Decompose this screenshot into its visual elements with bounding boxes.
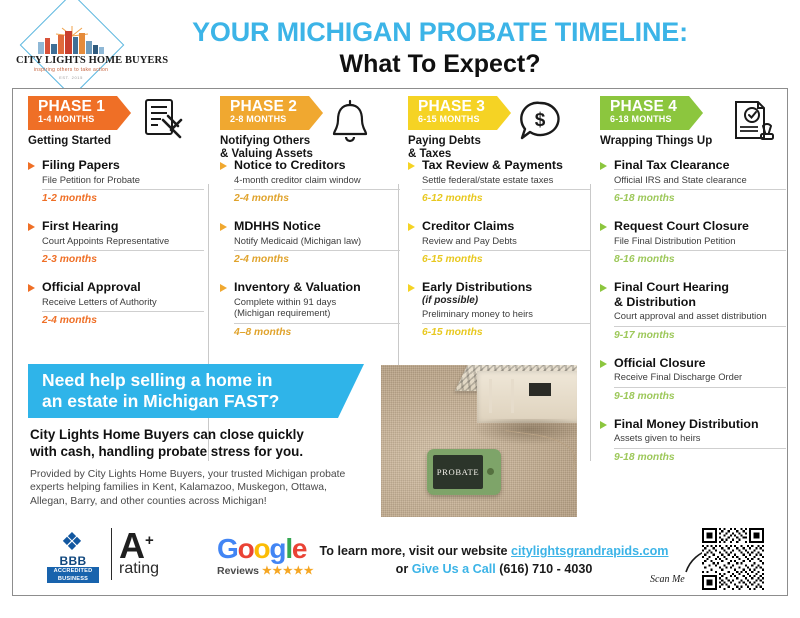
google-letter-l: l <box>285 533 292 564</box>
phone-number: (616) 710 - 4030 <box>496 562 593 576</box>
item-desc: File Petition for Probate <box>42 174 204 186</box>
page-title: YOUR MICHIGAN PROBATE TIMELINE: What To … <box>130 16 750 79</box>
phase-column-2: PHASE 2 2-8 MONTHS Notifying Others & Va… <box>220 96 400 353</box>
list-item: Tax Review & Payments Settle federal/sta… <box>408 158 590 205</box>
google-letter-g1: G <box>217 533 238 564</box>
item-desc: 4-month creditor claim window <box>234 174 400 186</box>
contact-line-1: To learn more, visit our website citylig… <box>294 542 694 560</box>
bullet-triangle-icon <box>600 284 607 292</box>
bbb-accredited-badge: ACCREDITED BUSINESS <box>47 567 99 583</box>
house-window <box>529 383 551 396</box>
document-stamp-icon <box>728 98 776 148</box>
phase-1-badge-label: PHASE 1 <box>38 99 105 114</box>
house-post <box>489 379 492 413</box>
item-rule <box>614 189 786 190</box>
item-desc: File Final Distribution Petition <box>614 235 786 247</box>
item-title: Official Approval <box>42 280 204 295</box>
item-duration: 1-2 months <box>42 193 204 205</box>
header: CITY LIGHTS HOME BUYERS inspiring others… <box>0 0 800 88</box>
list-item: Final Court Hearing & Distribution Court… <box>600 280 786 342</box>
list-item: First Hearing Court Appoints Representat… <box>28 219 204 266</box>
scan-me-label: Scan Me <box>650 574 685 585</box>
contact-line1-text: To learn more, visit our website <box>320 544 512 558</box>
website-link[interactable]: citylightsgrandrapids.com <box>511 544 668 558</box>
list-item: Official Closure Receive Final Discharge… <box>600 356 786 403</box>
list-item: Request Court Closure File Final Distrib… <box>600 219 786 266</box>
phase-3-badge: PHASE 3 6-15 MONTHS <box>408 96 511 130</box>
item-title: Filing Papers <box>42 158 204 173</box>
item-desc: Settle federal/state estate taxes <box>422 174 590 186</box>
item-title: Creditor Claims <box>422 219 590 234</box>
bbb-logo: ❖ BBB ACCREDITED BUSINESS <box>40 530 106 586</box>
bullet-triangle-icon <box>220 223 227 231</box>
timeline-columns: PHASE 1 1-4 MONTHS Getting Started <box>12 88 788 596</box>
item-rule <box>234 189 400 190</box>
cta-banner-line1: Need help selling a home in <box>42 370 354 391</box>
item-duration: 6-12 months <box>422 193 590 205</box>
phase-2-badge: PHASE 2 2-8 MONTHS <box>220 96 323 130</box>
item-rule <box>614 326 786 327</box>
tag-hole <box>487 468 494 475</box>
dollar-speech-bubble-icon: $ <box>516 98 564 148</box>
bullet-triangle-icon <box>408 284 415 292</box>
contact-line2-text: or <box>396 562 412 576</box>
item-title: Official Closure <box>614 356 786 371</box>
google-letter-o2: o <box>254 533 270 564</box>
item-title: Final Tax Clearance <box>614 158 786 173</box>
qr-code[interactable] <box>702 528 768 594</box>
item-desc: Court approval and asset distribution <box>614 310 786 322</box>
item-desc: Complete within 91 days (Michigan requir… <box>234 296 400 319</box>
list-item: Filing Papers File Petition for Probate … <box>28 158 204 205</box>
phase-column-4: PHASE 4 6-18 MONTHS Wrapping Things Up <box>600 96 786 478</box>
logo-company-name: CITY LIGHTS HOME BUYERS <box>16 55 126 66</box>
item-rule <box>614 448 786 449</box>
item-title: Final Court Hearing & Distribution <box>614 280 786 309</box>
item-rule <box>234 323 400 324</box>
item-title: Tax Review & Payments <box>422 158 590 173</box>
item-title: Inventory & Valuation <box>234 280 400 295</box>
title-line-1: YOUR MICHIGAN PROBATE TIMELINE: <box>130 16 750 48</box>
bullet-triangle-icon <box>600 223 607 231</box>
list-item: Final Tax Clearance Official IRS and Sta… <box>600 158 786 205</box>
bullet-triangle-icon <box>28 223 35 231</box>
cta-banner-line2: an estate in Michigan FAST? <box>42 391 354 412</box>
bullet-triangle-icon <box>600 162 607 170</box>
cta-headline-line2: with cash, handling probate stress for y… <box>30 444 376 461</box>
company-logo: CITY LIGHTS HOME BUYERS inspiring others… <box>16 6 126 86</box>
item-rule <box>422 189 590 190</box>
list-item: Inventory & Valuation Complete within 91… <box>220 280 400 339</box>
phase-4-months: 6-18 MONTHS <box>610 114 677 125</box>
bullet-triangle-icon <box>220 284 227 292</box>
item-desc: Court Appoints Representative <box>42 235 204 247</box>
item-title: Request Court Closure <box>614 219 786 234</box>
qr-code-image[interactable] <box>702 528 764 590</box>
column-divider-3 <box>590 184 591 461</box>
phase-column-3: PHASE 3 6-15 MONTHS Paying Debts & Taxes… <box>408 96 590 353</box>
logo-established: EST. 2015 <box>16 75 126 80</box>
house-post <box>511 379 514 413</box>
a-plus-grade: A+ <box>119 524 159 563</box>
phase-4-badge: PHASE 4 6-18 MONTHS <box>600 96 703 130</box>
google-letter-g2: g <box>269 533 285 564</box>
cta-banner: Need help selling a home in an estate in… <box>28 364 364 418</box>
city-skyline-icon <box>34 26 110 54</box>
bell-icon <box>326 98 374 148</box>
bullet-triangle-icon <box>408 162 415 170</box>
item-duration: 2-3 months <box>42 254 204 266</box>
infographic-page: CITY LIGHTS HOME BUYERS inspiring others… <box>0 0 800 618</box>
document-gavel-icon <box>140 96 188 146</box>
item-duration: 9-18 months <box>614 391 786 403</box>
title-line-2: What To Expect? <box>130 49 750 79</box>
list-item: Final Money Distribution Assets given to… <box>600 417 786 464</box>
list-item: MDHHS Notice Notify Medicaid (Michigan l… <box>220 219 400 266</box>
google-reviews-label: Reviews <box>217 565 259 577</box>
item-desc: Preliminary money to heirs <box>422 308 590 320</box>
contact-block: To learn more, visit our website citylig… <box>294 542 694 578</box>
item-duration: 6-15 months <box>422 254 590 266</box>
bullet-triangle-icon <box>600 360 607 368</box>
phase-1-badge: PHASE 1 1-4 MONTHS <box>28 96 131 130</box>
item-rule <box>614 387 786 388</box>
item-duration: 2-4 months <box>234 254 400 266</box>
phase-3-badge-label: PHASE 3 <box>418 99 485 114</box>
bbb-torch-icon: ❖ <box>59 530 85 556</box>
item-duration: 9-17 months <box>614 330 786 342</box>
item-rule <box>42 189 204 190</box>
a-plus-rating-label: rating <box>119 560 159 577</box>
item-duration: 2-4 months <box>234 193 400 205</box>
bbb-accredited-line2: BUSINESS <box>47 576 99 584</box>
item-desc: Official IRS and State clearance <box>614 174 786 186</box>
phase-4-header: PHASE 4 6-18 MONTHS Wrapping Things Up <box>600 96 786 158</box>
item-desc: Assets given to heirs <box>614 432 786 444</box>
logo-tagline: inspiring others to take action <box>16 67 126 73</box>
list-item: Official Approval Receive Letters of Aut… <box>28 280 204 327</box>
item-rule <box>42 311 204 312</box>
phase-4-badge-label: PHASE 4 <box>610 99 677 114</box>
item-duration: 8-16 months <box>614 254 786 266</box>
svg-text:$: $ <box>535 110 546 131</box>
list-item: Early Distributions (if possible) Prelim… <box>408 280 590 339</box>
item-desc: Receive Final Discharge Order <box>614 371 786 383</box>
item-desc: Review and Pay Debts <box>422 235 590 247</box>
list-item: Notice to Creditors 4-month creditor cla… <box>220 158 400 205</box>
phase-3-months: 6-15 MONTHS <box>418 114 485 125</box>
item-title: Early Distributions <box>422 280 590 295</box>
item-title: Final Money Distribution <box>614 417 786 432</box>
probate-photo: PROBATE <box>381 365 577 517</box>
list-item: Creditor Claims Review and Pay Debts 6-1… <box>408 219 590 266</box>
item-title: Notice to Creditors <box>234 158 400 173</box>
bullet-triangle-icon <box>220 162 227 170</box>
bullet-triangle-icon <box>28 162 35 170</box>
bbb-accredited-line1: ACCREDITED <box>47 568 99 576</box>
item-title: MDHHS Notice <box>234 219 400 234</box>
phase-column-1: PHASE 1 1-4 MONTHS Getting Started <box>28 96 204 341</box>
probate-tag: PROBATE <box>427 449 501 495</box>
bbb-label: BBB <box>40 554 106 568</box>
a-plus-rating: A+ rating <box>119 524 159 577</box>
phase-3-header: PHASE 3 6-15 MONTHS Paying Debts & Taxes… <box>408 96 590 158</box>
item-rule <box>234 250 400 251</box>
bullet-triangle-icon <box>28 284 35 292</box>
bbb-divider <box>111 528 112 580</box>
item-note: (if possible) <box>422 295 590 307</box>
bullet-triangle-icon <box>600 421 607 429</box>
item-duration: 4–8 months <box>234 327 400 339</box>
call-link[interactable]: Give Us a Call <box>412 562 496 576</box>
tag-face: PROBATE <box>433 455 483 489</box>
contact-line-2: or Give Us a Call (616) 710 - 4030 <box>294 560 694 578</box>
item-rule <box>422 323 590 324</box>
footer-bar: ❖ BBB ACCREDITED BUSINESS A+ rating Goog… <box>12 522 788 596</box>
item-rule <box>42 250 204 251</box>
google-letter-o1: o <box>238 533 254 564</box>
item-rule <box>422 250 590 251</box>
cta-body-text: Provided by City Lights Home Buyers, you… <box>30 468 360 508</box>
phase-1-header: PHASE 1 1-4 MONTHS Getting Started <box>28 96 204 158</box>
bullet-triangle-icon <box>408 223 415 231</box>
phase-2-header: PHASE 2 2-8 MONTHS Notifying Others & Va… <box>220 96 400 158</box>
item-duration: 9-18 months <box>614 452 786 464</box>
house-body <box>477 371 577 423</box>
item-desc: Receive Letters of Authority <box>42 296 204 308</box>
a-plus-sign: + <box>145 532 154 549</box>
cta-headline-line1: City Lights Home Buyers can close quickl… <box>30 427 376 444</box>
tag-label: PROBATE <box>437 467 479 477</box>
phase-1-months: 1-4 MONTHS <box>38 114 105 125</box>
phase-2-badge-label: PHASE 2 <box>230 99 297 114</box>
item-rule <box>614 250 786 251</box>
item-duration: 6-15 months <box>422 327 590 339</box>
item-duration: 2-4 months <box>42 315 204 327</box>
item-duration: 6-18 months <box>614 193 786 205</box>
phase-2-months: 2-8 MONTHS <box>230 114 297 125</box>
item-desc: Notify Medicaid (Michigan law) <box>234 235 400 247</box>
item-title: First Hearing <box>42 219 204 234</box>
cta-block: Need help selling a home in an estate in… <box>28 364 376 508</box>
